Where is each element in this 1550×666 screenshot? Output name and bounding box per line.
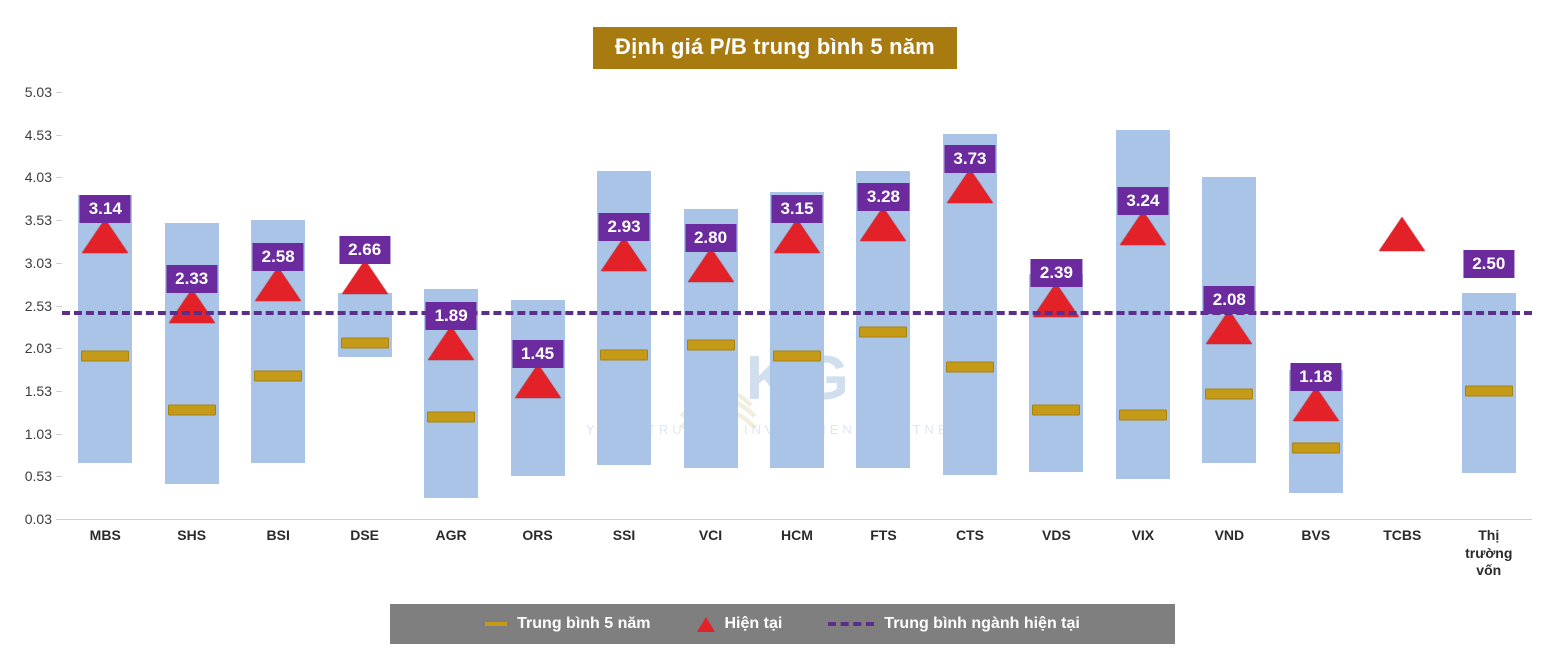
value-label: 2.08 — [1204, 286, 1255, 314]
value-label: 2.39 — [1031, 259, 1082, 287]
current-value-triangle[interactable] — [774, 219, 820, 253]
chart-category-group: 2.93SSI — [581, 92, 667, 519]
current-value-triangle[interactable] — [1120, 211, 1166, 245]
x-axis-category-label: SSI — [579, 527, 669, 545]
value-label: 3.14 — [80, 195, 131, 223]
legend-item-mean[interactable]: Trung bình 5 năm — [485, 615, 650, 633]
current-value-triangle[interactable] — [1206, 310, 1252, 344]
five-year-average-marker[interactable] — [1205, 389, 1253, 400]
y-axis-tick-label: 3.03 — [0, 255, 52, 271]
five-year-average-marker[interactable] — [81, 350, 129, 361]
industry-average-line — [62, 311, 1532, 315]
x-axis-category-label: AGR — [406, 527, 496, 545]
five-year-average-marker[interactable] — [427, 412, 475, 423]
current-value-triangle[interactable] — [342, 260, 388, 294]
legend-label-mean: Trung bình 5 năm — [517, 615, 650, 633]
x-axis-category-label: VND — [1184, 527, 1274, 545]
x-axis-category-label: MBS — [60, 527, 150, 545]
y-axis-tick-label: 0.03 — [0, 511, 52, 527]
value-label: 1.45 — [512, 340, 563, 368]
chart-category-group: TCBS — [1359, 92, 1445, 519]
five-year-average-marker[interactable] — [1292, 443, 1340, 454]
current-value-triangle[interactable] — [1293, 387, 1339, 421]
x-axis-category-label: Thị trường vốn — [1444, 527, 1534, 580]
x-axis-category-label: ORS — [493, 527, 583, 545]
chart-category-group: 2.58BSI — [235, 92, 321, 519]
chart-category-group: 2.80VCI — [667, 92, 753, 519]
y-axis-tick-label: 5.03 — [0, 84, 52, 100]
x-axis-category-label: TCBS — [1357, 527, 1447, 545]
red-triangle-icon — [697, 617, 715, 632]
x-axis-line — [62, 519, 1532, 520]
chart-category-group: 2.08VND — [1186, 92, 1272, 519]
current-value-triangle[interactable] — [255, 267, 301, 301]
value-label: 2.66 — [339, 236, 390, 264]
five-year-average-marker[interactable] — [341, 338, 389, 349]
chart-category-group: 1.18BVS — [1273, 92, 1359, 519]
x-axis-category-label: SHS — [147, 527, 237, 545]
range-bar[interactable] — [165, 223, 219, 484]
current-value-triangle[interactable] — [601, 237, 647, 271]
legend-label-industry-average: Trung bình ngành hiện tại — [884, 615, 1080, 633]
y-axis-tick-label: 2.53 — [0, 298, 52, 314]
chart-category-group: 3.28FTS — [840, 92, 926, 519]
chart-category-group: 2.39VDS — [1013, 92, 1099, 519]
chart-category-group: 2.33SHS — [148, 92, 234, 519]
five-year-average-marker[interactable] — [254, 370, 302, 381]
range-bar[interactable] — [1462, 293, 1516, 473]
legend-item-current[interactable]: Hiện tại — [697, 615, 783, 633]
plot-area: 3.14MBS2.33SHS2.58BSI2.66DSE1.89AGR1.45O… — [62, 92, 1532, 519]
value-label: 3.73 — [944, 145, 995, 173]
chart-category-group: 2.66DSE — [321, 92, 407, 519]
value-label: 3.15 — [771, 195, 822, 223]
current-value-triangle[interactable] — [860, 207, 906, 241]
value-label: 3.28 — [858, 183, 909, 211]
value-label: 1.18 — [1290, 363, 1341, 391]
value-label: 2.50 — [1463, 250, 1514, 278]
current-value-triangle[interactable] — [515, 364, 561, 398]
five-year-average-marker[interactable] — [773, 350, 821, 361]
x-axis-category-label: BVS — [1271, 527, 1361, 545]
chart-category-group: 1.89AGR — [408, 92, 494, 519]
y-axis-tick-label: 1.53 — [0, 383, 52, 399]
value-label: 2.93 — [599, 213, 650, 241]
chart-category-group: 3.14MBS — [62, 92, 148, 519]
current-value-triangle[interactable] — [428, 326, 474, 360]
range-bar[interactable] — [1116, 130, 1170, 478]
y-axis-tick-label: 3.53 — [0, 212, 52, 228]
current-value-triangle[interactable] — [688, 248, 734, 282]
y-axis-tick-label: 0.53 — [0, 468, 52, 484]
current-value-triangle[interactable] — [82, 219, 128, 253]
x-axis-category-label: VCI — [666, 527, 756, 545]
x-axis-category-label: CTS — [925, 527, 1015, 545]
y-axis-tick-label: 1.03 — [0, 426, 52, 442]
current-value-triangle[interactable] — [169, 289, 215, 323]
value-label: 2.33 — [166, 265, 217, 293]
chart-title-banner: Định giá P/B trung bình 5 năm — [0, 27, 1550, 69]
y-axis-tick-label: 2.03 — [0, 340, 52, 356]
five-year-average-marker[interactable] — [600, 350, 648, 361]
value-label: 2.58 — [253, 243, 304, 271]
x-axis-category-label: VDS — [1011, 527, 1101, 545]
chart-category-group: 3.73CTS — [927, 92, 1013, 519]
x-axis-category-label: HCM — [752, 527, 842, 545]
chart-category-group: 1.45ORS — [494, 92, 580, 519]
chart-category-group: 3.15HCM — [754, 92, 840, 519]
page-title: Định giá P/B trung bình 5 năm — [593, 27, 957, 69]
legend-item-industry-average[interactable]: Trung bình ngành hiện tại — [828, 615, 1080, 633]
five-year-average-marker[interactable] — [168, 404, 216, 415]
y-axis-tick-label: 4.03 — [0, 169, 52, 185]
chart-category-group: 2.50Thị trường vốn — [1446, 92, 1532, 519]
value-label: 1.89 — [426, 302, 477, 330]
five-year-average-marker[interactable] — [859, 326, 907, 337]
chart-category-group: 3.24VIX — [1100, 92, 1186, 519]
five-year-average-marker[interactable] — [1119, 409, 1167, 420]
chart-legend: Trung bình 5 năm Hiện tại Trung bình ngà… — [390, 604, 1175, 644]
current-value-triangle[interactable] — [947, 169, 993, 203]
five-year-average-marker[interactable] — [1465, 385, 1513, 396]
y-axis-tick-mark — [56, 519, 62, 520]
five-year-average-marker[interactable] — [946, 361, 994, 372]
x-axis-category-label: BSI — [233, 527, 323, 545]
five-year-average-marker[interactable] — [687, 339, 735, 350]
mean-dash-icon — [485, 622, 507, 626]
current-value-triangle[interactable] — [1379, 217, 1425, 251]
x-axis-category-label: VIX — [1098, 527, 1188, 545]
x-axis-category-label: DSE — [320, 527, 410, 545]
purple-dashed-line-icon — [828, 622, 874, 626]
value-label: 3.24 — [1117, 187, 1168, 215]
legend-label-current: Hiện tại — [725, 615, 783, 633]
y-axis-tick-label: 4.53 — [0, 127, 52, 143]
value-label: 2.80 — [685, 224, 736, 252]
x-axis-category-label: FTS — [838, 527, 928, 545]
five-year-average-marker[interactable] — [1032, 404, 1080, 415]
